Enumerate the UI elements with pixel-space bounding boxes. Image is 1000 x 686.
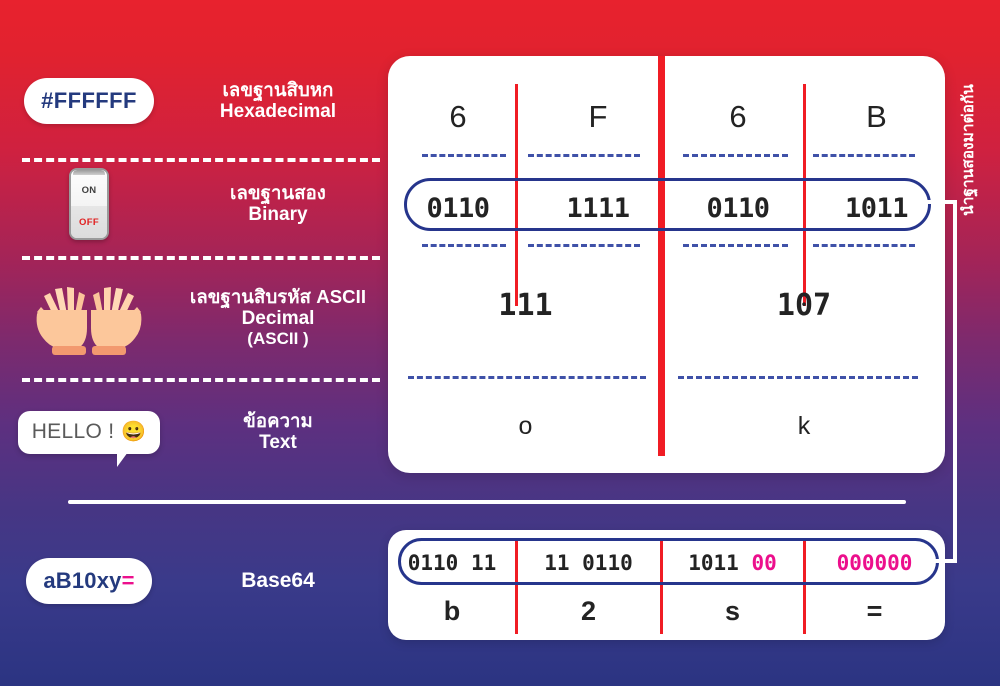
toggle-switch-on-label: ON [71,170,107,206]
hex-badge-cell: #FFFFFF [0,78,178,124]
hex-color-value: #FFFFFF [41,88,137,113]
connector-top-segment [905,200,957,204]
two-hands-icon [27,276,151,360]
section-divider [68,500,906,504]
legend-label-sub: (ASCII ) [178,329,378,348]
table-cell-text-1: o [388,396,663,456]
connector-bottom-segment [929,559,957,563]
legend-row-decimal: เลขฐานสิบรหัส ASCII Decimal (ASCII ) [0,266,385,370]
table-row-text: o k [388,396,945,456]
base64-badge-cell: aB10xy= [0,558,178,604]
table-cell-hex-1: 6 [388,86,528,148]
binary-badge-cell: ON OFF [0,168,178,240]
dash-rule-bin-4 [813,244,915,247]
dash-rule-bin-1 [422,244,506,247]
legend-separator-1 [22,158,380,162]
base64-padding-char: = [122,568,135,593]
legend-label-thai: เลขฐานสิบหก [178,80,378,101]
table-cell-decimal-1: 111 [388,272,663,338]
table-cell-decimal-2: 107 [663,272,945,338]
text-badge-cell: HELLO ! 😀 [0,411,178,454]
hex-color-pill[interactable]: #FFFFFF [24,78,154,124]
legend-label-thai: เลขฐานสอง [178,183,378,204]
legend-separator-2 [22,256,380,260]
dash-rule-hex-4 [813,154,915,157]
connector-arrow-icon [913,551,931,571]
base64-chars-row: b 2 s = [388,588,945,634]
base64-char-cell-2: 2 [516,588,661,634]
table-row-decimal: 111 107 [388,272,945,338]
dash-rule-bin-3 [683,244,788,247]
dash-rule-hex-1 [422,154,506,157]
legend-label-english: Base64 [178,569,378,593]
legend-label-text: ข้อความ Text [178,411,378,453]
table-cell-hex-4: B [808,86,945,148]
toggle-switch-off-label: OFF [71,206,107,238]
legend-label-english: Hexadecimal [178,101,378,122]
base64-code-pill[interactable]: aB10xy= [26,558,151,604]
conversion-table-panel: 6 F 6 B 0110 1111 0110 1011 111 107 o k [388,56,945,473]
dash-rule-dec-2 [678,376,918,379]
legend-row-base64: aB10xy= Base64 [0,550,385,612]
base64-bits-highlight-capsule [398,538,939,585]
base64-code-value: aB10xy= [43,568,134,593]
legend-label-english: Text [178,432,378,453]
legend-label-base64: Base64 [178,569,378,593]
base64-char-cell-3: s [661,588,804,634]
table-cell-text-2: k [663,396,945,456]
toggle-switch[interactable]: ON OFF [69,168,109,240]
legend-label-hexadecimal: เลขฐานสิบหก Hexadecimal [178,80,378,122]
base64-char-cell-4: = [804,588,945,634]
dash-rule-hex-2 [528,154,640,157]
legend-label-thai: เลขฐานสิบรหัส ASCII [178,287,378,308]
legend-row-hexadecimal: #FFFFFF เลขฐานสิบหก Hexadecimal [0,62,385,140]
legend-label-thai: ข้อความ [178,411,378,432]
grinning-face-icon: 😀 [121,422,146,442]
legend-row-text: HELLO ! 😀 ข้อความ Text [0,396,385,468]
legend-label-decimal: เลขฐานสิบรหัส ASCII Decimal (ASCII ) [178,287,378,348]
table-row-hexadecimal: 6 F 6 B [388,86,945,148]
legend-row-binary: ON OFF เลขฐานสอง Binary [0,166,385,242]
speech-bubble[interactable]: HELLO ! 😀 [18,411,161,454]
base64-char-cell-1: b [388,588,516,634]
legend-label-binary: เลขฐานสอง Binary [178,183,378,225]
connector-note-label: นำฐานสองมาต่อกัน [955,10,980,290]
legend-label-english: Decimal [178,308,378,329]
table-cell-hex-3: 6 [668,86,808,148]
binary-row-highlight-capsule [404,178,931,231]
speech-bubble-text: HELLO ! [32,420,115,444]
dash-rule-bin-2 [528,244,640,247]
legend-separator-3 [22,378,380,382]
decimal-badge-cell [0,276,178,360]
table-cell-hex-2: F [528,86,668,148]
binary-to-base64-connector [905,200,1000,580]
dash-rule-hex-3 [683,154,788,157]
legend-label-english: Binary [178,204,378,225]
legend-column: #FFFFFF เลขฐานสิบหก Hexadecimal ON OFF เ… [0,0,385,686]
dash-rule-dec-1 [408,376,646,379]
